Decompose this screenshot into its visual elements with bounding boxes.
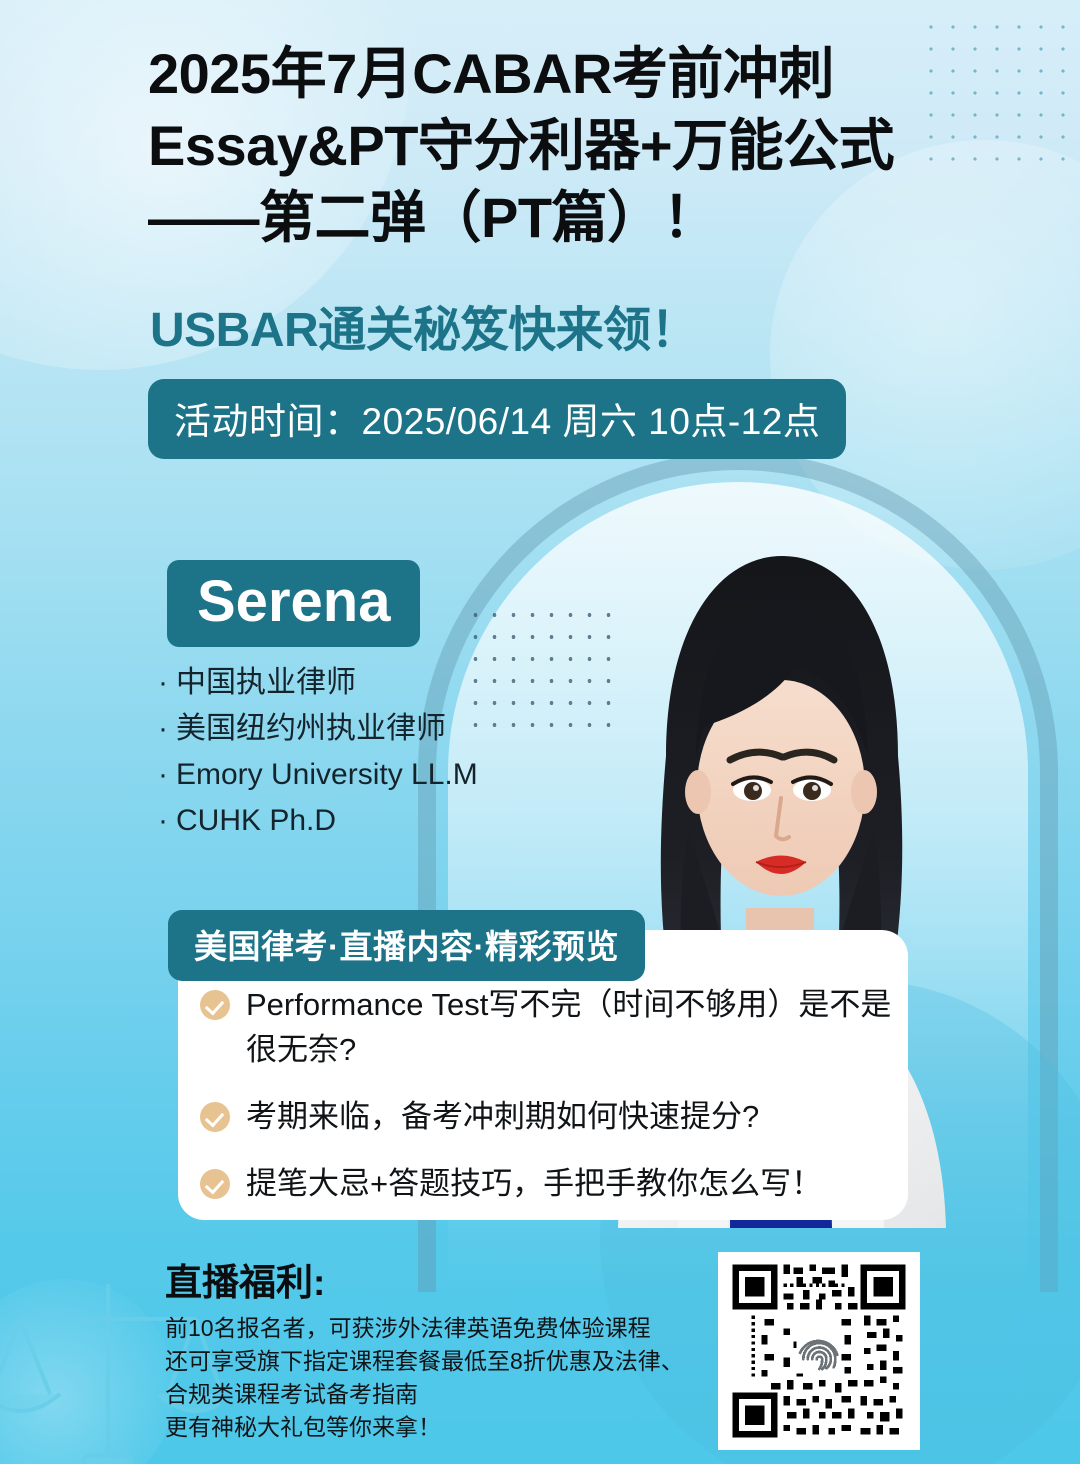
speaker-credentials: ·中国执业律师 ·美国纽约州执业律师 ·Emory University LL.…	[158, 660, 588, 844]
list-item-text: 提笔大忌+答题技巧，手把手教你怎么写！	[246, 1161, 822, 1206]
check-icon	[200, 1169, 230, 1199]
list-item: 考期来临，备考冲刺期如何快速提分?	[200, 1094, 900, 1139]
speaker-name-badge: Serena	[167, 560, 420, 647]
subheadline: USBAR通关秘笈快来领！	[150, 290, 698, 360]
bullet-mark: ·	[158, 712, 168, 745]
credential-item: ·中国执业律师	[158, 660, 588, 706]
benefits-line: 还可享受旗下指定课程套餐最低至8折优惠及法律、	[165, 1345, 685, 1378]
credential-text: Emory University LL.M	[176, 758, 478, 791]
list-item-text: Performance Test写不完（时间不够用）是不是很无奈?	[246, 982, 900, 1072]
credential-item: ·Emory University LL.M	[158, 752, 588, 798]
bullet-mark: ·	[158, 666, 168, 699]
credential-text: 美国纽约州执业律师	[176, 712, 446, 745]
credential-text: CUHK Ph.D	[176, 804, 336, 837]
credential-item: ·CUHK Ph.D	[158, 798, 588, 844]
bullet-mark: ·	[158, 804, 168, 837]
bullet-mark: ·	[158, 758, 168, 791]
check-icon	[200, 1102, 230, 1132]
promo-poster: 2025年7月CABAR考前冲刺 Essay&PT守分利器+万能公式 ——第二弹…	[0, 0, 1080, 1464]
check-icon	[200, 990, 230, 1020]
benefits-title: 直播福利:	[165, 1252, 325, 1306]
qr-code[interactable]	[718, 1252, 920, 1450]
event-time-badge: 活动时间：2025/06/14 周六 10点-12点	[148, 379, 846, 459]
benefits-line: 更有神秘大礼包等你来拿！	[165, 1411, 685, 1444]
benefits-line: 前10名报名者，可获涉外法律英语免费体验课程	[165, 1312, 685, 1345]
benefits-line: 合规类课程考试备考指南	[165, 1378, 685, 1411]
list-item: Performance Test写不完（时间不够用）是不是很无奈?	[200, 982, 900, 1072]
headline-line-3: ——第二弹（PT篇）！	[148, 182, 978, 254]
credential-text: 中国执业律师	[176, 666, 356, 699]
headline-line-2: Essay&PT守分利器+万能公式	[148, 110, 978, 182]
preview-bullet-list: Performance Test写不完（时间不够用）是不是很无奈? 考期来临，备…	[200, 982, 900, 1228]
page-title: 2025年7月CABAR考前冲刺 Essay&PT守分利器+万能公式 ——第二弹…	[148, 38, 978, 254]
headline-line-1: 2025年7月CABAR考前冲刺	[148, 38, 978, 110]
qr-code-image	[724, 1258, 914, 1444]
benefits-body: 前10名报名者，可获涉外法律英语免费体验课程 还可享受旗下指定课程套餐最低至8折…	[165, 1312, 685, 1444]
credential-item: ·美国纽约州执业律师	[158, 706, 588, 752]
list-item: 提笔大忌+答题技巧，手把手教你怎么写！	[200, 1161, 900, 1206]
preview-section-badge: 美国律考·直播内容·精彩预览	[168, 910, 645, 981]
list-item-text: 考期来临，备考冲刺期如何快速提分?	[246, 1094, 759, 1139]
